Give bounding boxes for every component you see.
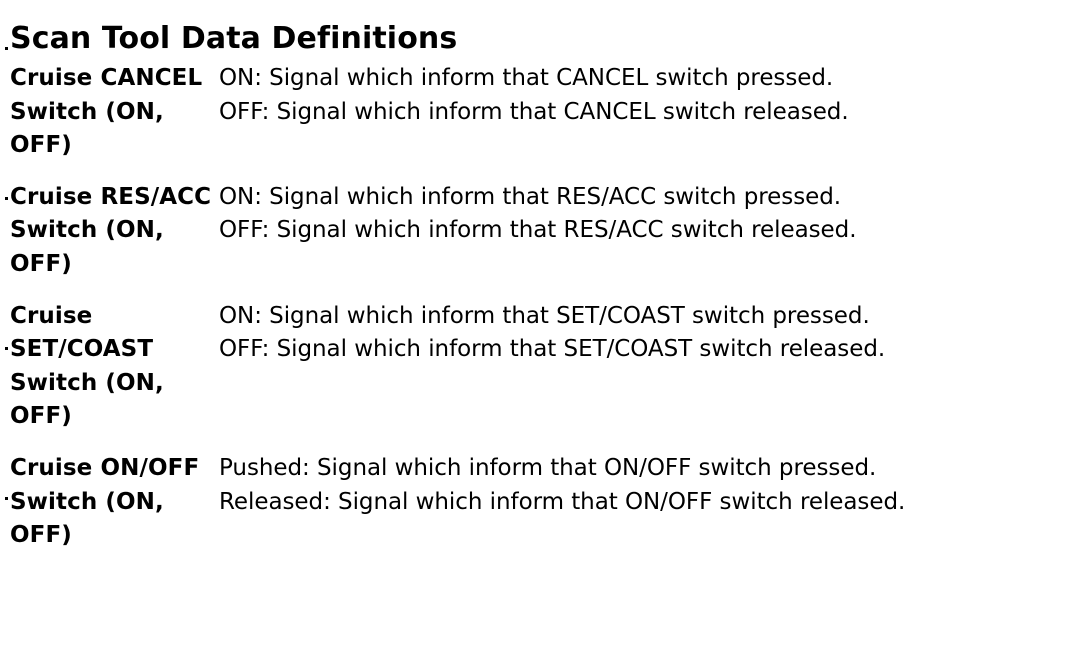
scan-tool-data-definitions-table: Cruise CANCEL Switch (ON, OFF)ON: Signal… [0, 62, 1072, 571]
definitions-table-body: Cruise CANCEL Switch (ON, OFF)ON: Signal… [0, 62, 1072, 571]
definition-description: ON: Signal which inform that RES/ACC swi… [219, 181, 1072, 300]
definition-term: Cruise ON/OFF Switch (ON, OFF) [0, 452, 219, 571]
table-row: Cruise SET/COAST Switch (ON, OFF)ON: Sig… [0, 300, 1072, 452]
definition-description-line: Pushed: Signal which inform that ON/OFF … [219, 452, 1072, 486]
scan-speckle [5, 197, 8, 200]
definition-description-line: OFF: Signal which inform that RES/ACC sw… [219, 214, 1072, 248]
scan-speckle [5, 47, 8, 50]
scan-speckle [5, 497, 8, 500]
scan-speckle [5, 347, 8, 350]
definition-description-line: OFF: Signal which inform that SET/COAST … [219, 333, 1072, 367]
document-page: Scan Tool Data Definitions Cruise CANCEL… [0, 0, 1072, 654]
definition-term: Cruise CANCEL Switch (ON, OFF) [0, 62, 219, 181]
definition-description: ON: Signal which inform that SET/COAST s… [219, 300, 1072, 452]
definition-description-line: ON: Signal which inform that CANCEL swit… [219, 62, 1072, 96]
definition-term: Cruise SET/COAST Switch (ON, OFF) [0, 300, 219, 452]
definition-description-line: ON: Signal which inform that RES/ACC swi… [219, 181, 1072, 215]
page-title: Scan Tool Data Definitions [10, 21, 457, 57]
table-row: Cruise CANCEL Switch (ON, OFF)ON: Signal… [0, 62, 1072, 181]
definition-term: Cruise RES/ACC Switch (ON, OFF) [0, 181, 219, 300]
definition-description-line: OFF: Signal which inform that CANCEL swi… [219, 96, 1072, 130]
table-row: Cruise RES/ACC Switch (ON, OFF)ON: Signa… [0, 181, 1072, 300]
definition-description-line: Released: Signal which inform that ON/OF… [219, 486, 1072, 520]
definition-description: Pushed: Signal which inform that ON/OFF … [219, 452, 1072, 571]
table-row: Cruise ON/OFF Switch (ON, OFF)Pushed: Si… [0, 452, 1072, 571]
definition-description-line: ON: Signal which inform that SET/COAST s… [219, 300, 1072, 334]
definition-description: ON: Signal which inform that CANCEL swit… [219, 62, 1072, 181]
